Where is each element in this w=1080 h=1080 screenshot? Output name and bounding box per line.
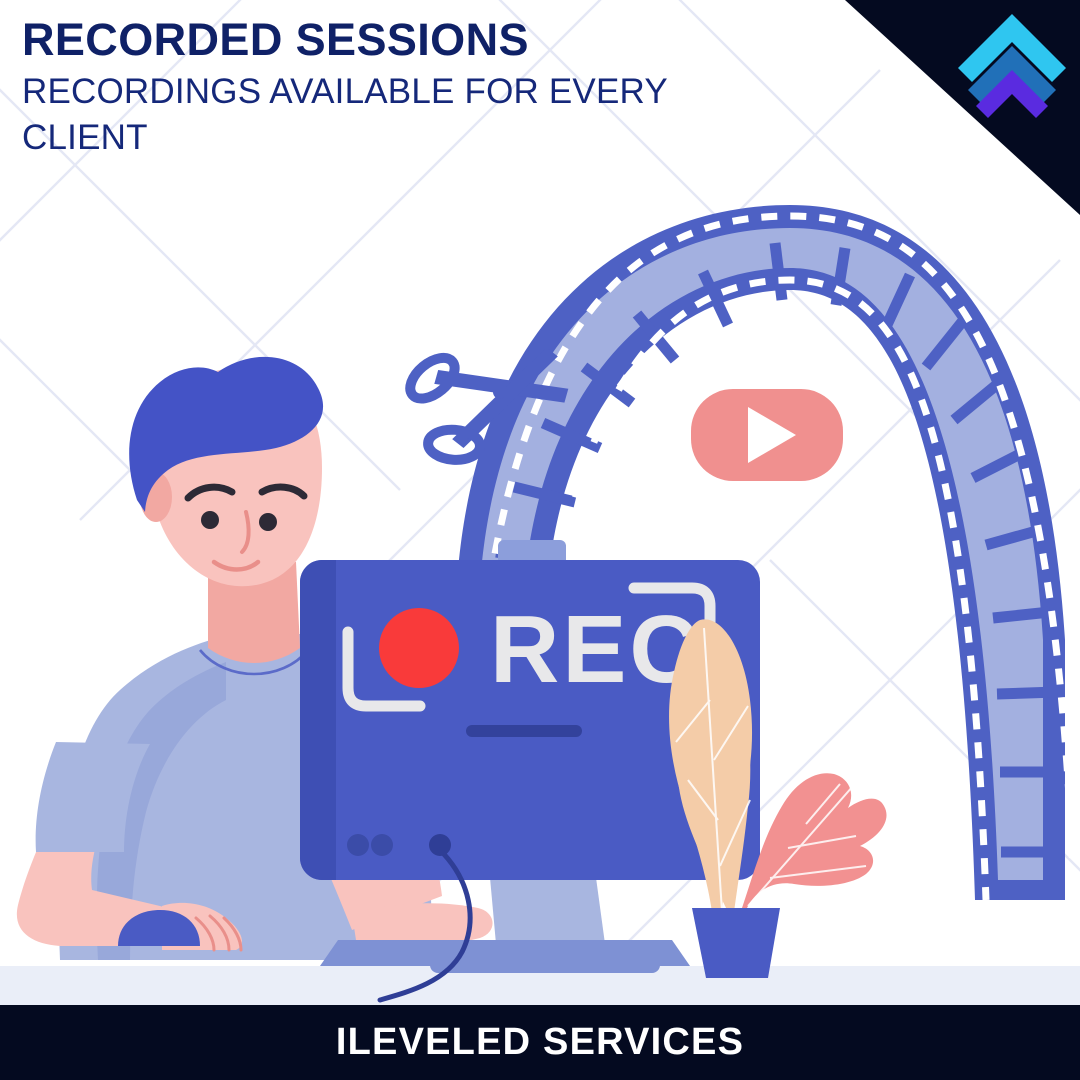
heading-block: RECORDED SESSIONS RECORDINGS AVAILABLE F… [22,16,802,160]
monitor-bezel-edge [300,560,336,880]
page-title: RECORDED SESSIONS [22,16,802,63]
monitor-indicator-dot-2 [371,834,393,856]
character-eye-left [201,511,219,529]
keyboard [320,940,690,966]
bottom-banner: ILEVELED SERVICES [0,1005,1080,1080]
monitor-indicator-dot-1 [347,834,369,856]
plant-pot [692,908,780,978]
play-button[interactable] [691,389,843,481]
chevron-stack-logo[interactable] [952,8,1072,120]
page-subtitle: RECORDINGS AVAILABLE FOR EVERY CLIENT [22,69,762,160]
monitor-stand-slot [466,725,582,737]
potted-plant [669,619,886,978]
poster-canvas: RECORDED SESSIONS RECORDINGS AVAILABLE F… [0,0,1080,1080]
record-dot-icon [379,608,459,688]
banner-brand-text: ILEVELED SERVICES [336,1021,744,1064]
rec-label: REC [490,596,702,703]
character-eye-right [259,513,277,531]
